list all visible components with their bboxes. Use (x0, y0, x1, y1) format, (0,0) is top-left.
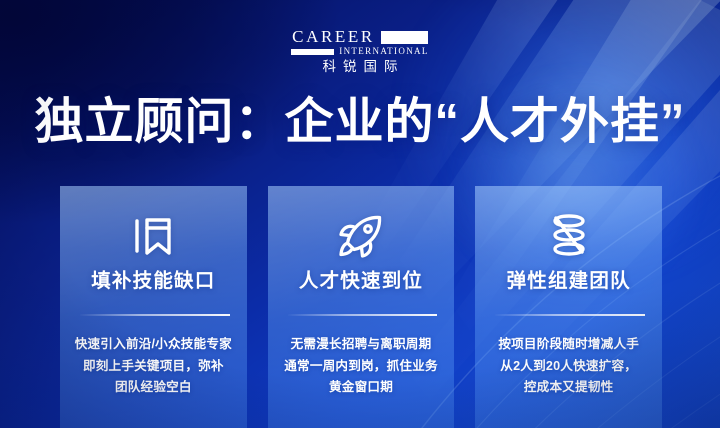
feature-card-title: 填补技能缺口 (60, 272, 247, 292)
page-title: 独立顾问：企业的“人才外挂” (0, 96, 720, 149)
feature-card-description: 无需漫长招聘与离职周期 通常一周内到岗，抓住业务 黄金窗口期 (276, 334, 447, 399)
logo-top-row: CAREER (292, 28, 428, 45)
feature-card-desc-line: 团队经验空白 (68, 377, 239, 399)
feature-card-description: 快速引入前沿/小众技能专家 即刻上手关键项目，弥补 团队经验空白 (68, 334, 239, 399)
feature-card-description: 按项目阶段随时增减人手 从2人到20人快速扩容， 控成本又提韧性 (483, 334, 654, 399)
rocket-icon (268, 206, 455, 266)
feature-card-desc-line: 无需漫长招聘与离职周期 (276, 334, 447, 356)
feature-card-desc-line: 即刻上手关键项目，弥补 (68, 356, 239, 378)
logo-international-wordmark: INTERNATIONAL (339, 47, 429, 56)
bookmark-book-icon (60, 206, 247, 266)
feature-card-divider (495, 314, 645, 316)
logo-chinese-name: 科锐国际 (316, 60, 405, 74)
logo-block-icon (381, 31, 428, 44)
spring-coil-icon (475, 206, 662, 266)
feature-card-divider (288, 314, 438, 316)
feature-card-fast-staffing[interactable]: 人才快速到位 无需漫长招聘与离职周期 通常一周内到岗，抓住业务 黄金窗口期 (268, 186, 455, 428)
feature-card-title: 弹性组建团队 (475, 272, 662, 292)
feature-card-desc-line: 按项目阶段随时增减人手 (483, 334, 654, 356)
feature-card-desc-line: 黄金窗口期 (276, 377, 447, 399)
brand-logo: CAREER INTERNATIONAL 科锐国际 (0, 28, 720, 74)
feature-card-list: 填补技能缺口 快速引入前沿/小众技能专家 即刻上手关键项目，弥补 团队经验空白 … (60, 186, 662, 428)
feature-card-desc-line: 通常一周内到岗，抓住业务 (276, 356, 447, 378)
logo-career-wordmark: CAREER (292, 28, 375, 45)
feature-card-skill-gap[interactable]: 填补技能缺口 快速引入前沿/小众技能专家 即刻上手关键项目，弥补 团队经验空白 (60, 186, 247, 428)
logo-bar-icon (291, 49, 334, 55)
feature-card-desc-line: 从2人到20人快速扩容， (483, 356, 654, 378)
feature-card-divider (80, 314, 230, 316)
logo-second-row: INTERNATIONAL (291, 47, 429, 56)
feature-card-desc-line: 快速引入前沿/小众技能专家 (68, 334, 239, 356)
banner-canvas: CAREER INTERNATIONAL 科锐国际 独立顾问：企业的“人才外挂”… (0, 0, 720, 428)
feature-card-desc-line: 控成本又提韧性 (483, 377, 654, 399)
feature-card-flexible-team[interactable]: 弹性组建团队 按项目阶段随时增减人手 从2人到20人快速扩容， 控成本又提韧性 (475, 186, 662, 428)
feature-card-title: 人才快速到位 (268, 272, 455, 292)
